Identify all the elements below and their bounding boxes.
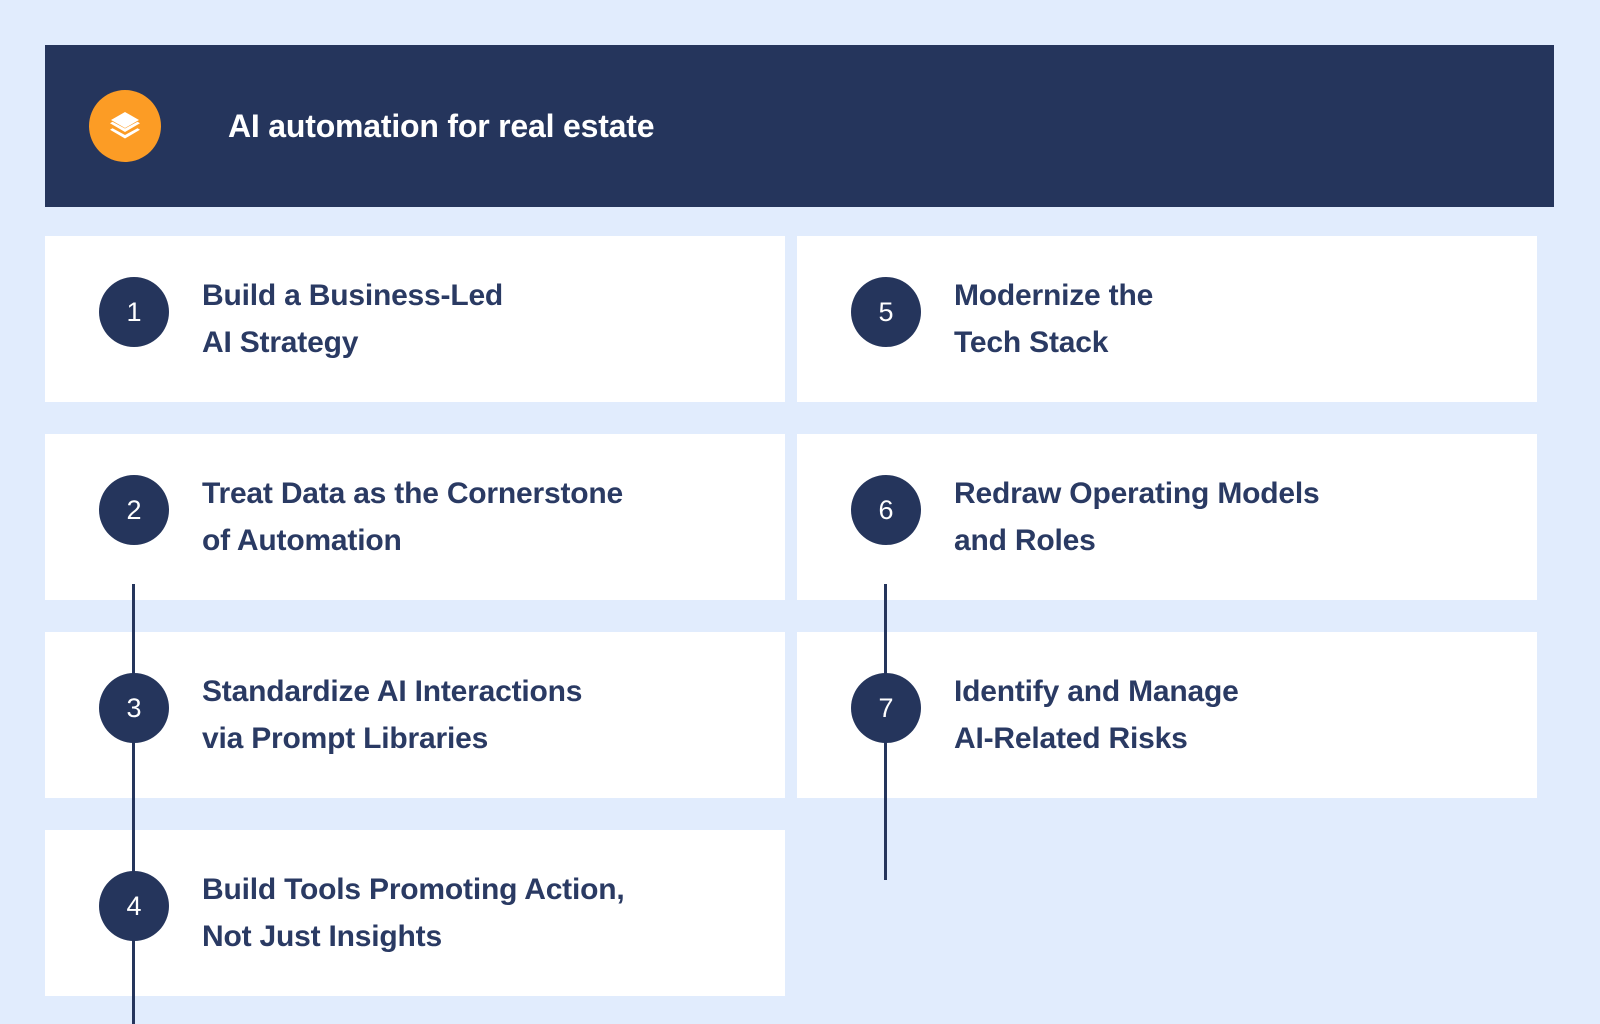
step-label-line-2: AI Strategy xyxy=(202,319,503,366)
step-label-line-2: Tech Stack xyxy=(954,319,1153,366)
infographic-page: AI automation for real estate 1 Build a … xyxy=(0,0,1600,1024)
step-card-4[interactable]: 4 Build Tools Promoting Action, Not Just… xyxy=(45,830,785,996)
step-label-line-2: of Automation xyxy=(202,517,623,564)
step-card-label: Treat Data as the Cornerstone of Automat… xyxy=(202,470,623,564)
step-card-3[interactable]: 3 Standardize AI Interactions via Prompt… xyxy=(45,632,785,798)
step-number-badge: 1 xyxy=(99,277,169,347)
step-card-6[interactable]: 6 Redraw Operating Models and Roles xyxy=(797,434,1537,600)
step-label-line-2: Not Just Insights xyxy=(202,913,625,960)
connector-line-left xyxy=(132,584,135,1024)
step-card-label: Standardize AI Interactions via Prompt L… xyxy=(202,668,582,762)
step-card-label: Modernize the Tech Stack xyxy=(954,272,1153,366)
step-label-line-1: Build a Business-Led xyxy=(202,279,503,312)
step-label-line-1: Identify and Manage xyxy=(954,675,1239,708)
step-card-5[interactable]: 5 Modernize the Tech Stack xyxy=(797,236,1537,402)
step-card-label: Build a Business-Led AI Strategy xyxy=(202,272,503,366)
step-card-7[interactable]: 7 Identify and Manage AI-Related Risks xyxy=(797,632,1537,798)
step-card-1[interactable]: 1 Build a Business-Led AI Strategy xyxy=(45,236,785,402)
layers-icon xyxy=(89,90,161,162)
step-number-badge: 3 xyxy=(99,673,169,743)
step-card-label: Redraw Operating Models and Roles xyxy=(954,470,1319,564)
step-number-badge: 4 xyxy=(99,871,169,941)
page-title: AI automation for real estate xyxy=(228,108,654,145)
step-card-label: Identify and Manage AI-Related Risks xyxy=(954,668,1239,762)
step-number-badge: 6 xyxy=(851,475,921,545)
step-label-line-1: Modernize the xyxy=(954,279,1153,312)
step-label-line-2: via Prompt Libraries xyxy=(202,715,582,762)
step-number-badge: 7 xyxy=(851,673,921,743)
left-column: 1 Build a Business-Led AI Strategy 2 Tre… xyxy=(45,236,785,996)
step-label-line-1: Redraw Operating Models xyxy=(954,477,1319,510)
header-bar: AI automation for real estate xyxy=(45,45,1554,207)
right-column: 5 Modernize the Tech Stack 6 Redraw Oper… xyxy=(797,236,1537,798)
step-card-2[interactable]: 2 Treat Data as the Cornerstone of Autom… xyxy=(45,434,785,600)
step-card-label: Build Tools Promoting Action, Not Just I… xyxy=(202,866,625,960)
step-label-line-1: Standardize AI Interactions xyxy=(202,675,582,708)
step-label-line-1: Build Tools Promoting Action, xyxy=(202,873,625,906)
step-number-badge: 2 xyxy=(99,475,169,545)
step-label-line-2: AI-Related Risks xyxy=(954,715,1239,762)
step-label-line-2: and Roles xyxy=(954,517,1319,564)
step-label-line-1: Treat Data as the Cornerstone xyxy=(202,477,623,510)
step-number-badge: 5 xyxy=(851,277,921,347)
